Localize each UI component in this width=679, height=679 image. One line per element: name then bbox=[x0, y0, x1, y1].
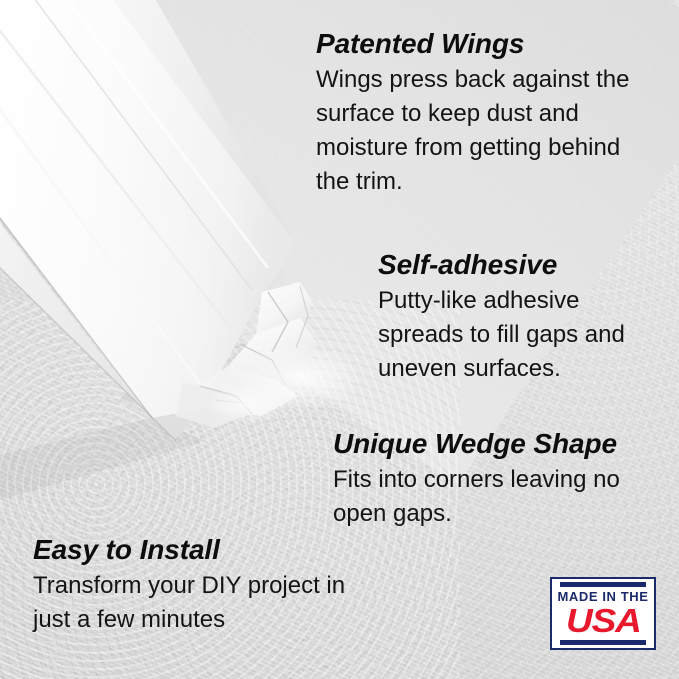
infographic-canvas: Patented Wings Wings press back against … bbox=[0, 0, 679, 679]
made-in-usa-badge: MADE IN THE USA bbox=[550, 577, 656, 650]
feature-body-self-adhesive: Putty-like adhesive spreads to fill gaps… bbox=[378, 284, 646, 386]
feature-body-unique-wedge-shape: Fits into corners leaving no open gaps. bbox=[333, 463, 653, 531]
feature-heading-self-adhesive: Self-adhesive bbox=[378, 249, 646, 281]
feature-heading-easy-to-install: Easy to Install bbox=[33, 534, 363, 566]
feature-body-patented-wings: Wings press back against the surface to … bbox=[316, 63, 646, 199]
badge-bottom-bar bbox=[560, 640, 646, 645]
feature-heading-patented-wings: Patented Wings bbox=[316, 28, 646, 60]
feature-easy-to-install: Easy to Install Transform your DIY proje… bbox=[33, 534, 363, 637]
badge-top-bar bbox=[560, 582, 646, 587]
badge-usa-text: USA bbox=[566, 604, 641, 638]
feature-self-adhesive: Self-adhesive Putty-like adhesive spread… bbox=[378, 249, 646, 386]
feature-heading-unique-wedge-shape: Unique Wedge Shape bbox=[333, 428, 653, 460]
feature-patented-wings: Patented Wings Wings press back against … bbox=[316, 28, 646, 199]
feature-unique-wedge-shape: Unique Wedge Shape Fits into corners lea… bbox=[333, 428, 653, 531]
feature-body-easy-to-install: Transform your DIY project in just a few… bbox=[33, 569, 363, 637]
